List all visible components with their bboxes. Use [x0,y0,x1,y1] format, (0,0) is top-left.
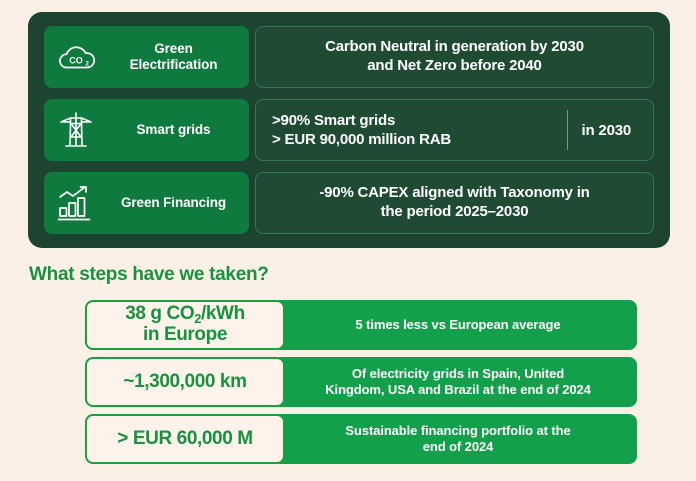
co2-cloud-icon: CO 2 [52,41,100,73]
pillar-statement-text: >90% Smart grids > EUR 90,000 million RA… [272,111,563,150]
pillar-label-line1: Green [154,41,193,56]
achievement-row-grids: ~1,300,000 km Of electricity grids in Sp… [85,357,637,407]
pillar-label-line1: Smart grids [137,122,211,137]
pillar-statement-green-electrification: Carbon Neutral in generation by 2030 and… [255,26,654,88]
co2-subscript: 2 [194,311,201,326]
pillar-label-smart-grids: Smart grids [106,122,241,138]
pillar-row-green-financing: Green Financing -90% CAPEX aligned with … [44,172,654,234]
strategy-pillars-card: CO 2 Green Electrification Carbon Neutra… [28,12,670,248]
pillar-row-smart-grids: Smart grids >90% Smart grids > EUR 90,00… [44,99,654,161]
pillar-statement-line1: >90% Smart grids [272,112,395,129]
bar-chart-growth-icon [52,184,100,222]
achievement-description-line1: Sustainable financing portfolio at the [345,423,570,438]
steps-section-heading: What steps have we taken? [29,264,269,286]
achievement-description-text: Of electricity grids in Spain, United Ki… [325,366,590,399]
achievement-figure: 38 g CO2/kWh in Europe [85,300,285,350]
pillar-left-smart-grids: Smart grids [44,99,249,161]
achievement-row-emissions: 38 g CO2/kWh in Europe 5 times less vs E… [85,300,637,350]
pillar-label-line2: Electrification [130,57,218,72]
statement-divider [567,110,568,150]
pillar-label-line1: Green Financing [121,195,226,210]
achievement-figure-line1: > EUR 60,000 M [117,429,252,450]
pillar-statement-green-financing: -90% CAPEX aligned with Taxonomy in the … [255,172,654,234]
pillar-statement-smart-grids: >90% Smart grids > EUR 90,000 million RA… [255,99,654,161]
achievement-description: Of electricity grids in Spain, United Ki… [279,357,637,407]
transmission-pylon-icon [52,110,100,150]
achievement-figure-line1: ~1,300,000 km [123,372,246,393]
svg-text:CO: CO [69,56,83,66]
achievement-description: Sustainable financing portfolio at the e… [279,414,637,464]
pillar-statement-line1: Carbon Neutral in generation by 2030 [325,38,584,55]
achievements-list: 38 g CO2/kWh in Europe 5 times less vs E… [85,300,637,464]
achievement-figure: ~1,300,000 km [85,357,285,407]
pillar-statement-line1: -90% CAPEX aligned with Taxonomy in [319,184,589,201]
achievement-description-line1: 5 times less vs European average [356,317,561,332]
pillar-label-green-financing: Green Financing [106,195,241,211]
achievement-description: 5 times less vs European average [279,300,637,350]
achievement-description-line1: Of electricity grids in Spain, United [352,366,564,381]
pillar-row-green-electrification: CO 2 Green Electrification Carbon Neutra… [44,26,654,88]
achievement-figure-text: 38 g CO2/kWh in Europe [125,304,245,346]
achievement-description-line2: Kingdom, USA and Brazil at the end of 20… [325,382,590,397]
pillar-statement-line2: and Net Zero before 2040 [367,57,541,74]
achievement-figure-line2: in Europe [143,324,227,345]
achievement-figure-line1: 38 g CO2/kWh [125,303,245,324]
pillar-statement-text: Carbon Neutral in generation by 2030 and… [325,38,584,76]
pillar-left-green-electrification: CO 2 Green Electrification [44,26,249,88]
pillar-statement-aside: in 2030 [582,122,643,139]
achievement-row-financing: > EUR 60,000 M Sustainable financing por… [85,414,637,464]
achievement-description-text: 5 times less vs European average [356,317,561,333]
achievement-description-line2: end of 2024 [423,439,493,454]
achievement-description-text: Sustainable financing portfolio at the e… [345,423,570,456]
achievement-figure: > EUR 60,000 M [85,414,285,464]
pillar-label-green-electrification: Green Electrification [106,41,241,73]
pillar-statement-text: -90% CAPEX aligned with Taxonomy in the … [319,184,589,222]
pillar-statement-line2: > EUR 90,000 million RAB [272,131,451,148]
pillar-statement-line2: the period 2025–2030 [381,203,529,220]
pillar-left-green-financing: Green Financing [44,172,249,234]
